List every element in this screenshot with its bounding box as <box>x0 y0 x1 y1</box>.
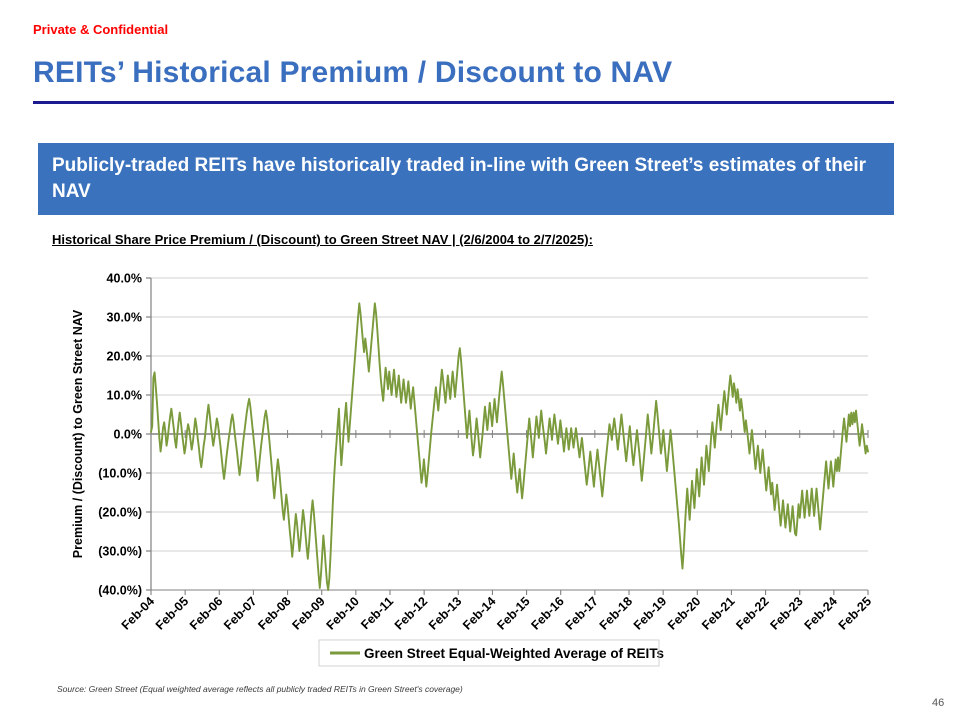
x-tick-label: Feb-18 <box>597 594 635 632</box>
x-tick-label: Feb-07 <box>221 594 259 632</box>
x-tick-label: Feb-13 <box>426 594 464 632</box>
x-tick-label: Feb-21 <box>699 594 737 632</box>
x-tick-label: Feb-06 <box>187 594 225 632</box>
y-axis-ticks <box>146 278 151 590</box>
x-tick-label: Feb-11 <box>358 594 396 632</box>
legend-label-green-street: Green Street Equal-Weighted Average of R… <box>364 646 664 661</box>
chart-legend: Green Street Equal-Weighted Average of R… <box>330 646 664 661</box>
y-tick-label: 30.0% <box>107 311 142 325</box>
x-tick-label: Feb-04 <box>119 594 157 632</box>
chart-canvas: 40.0%30.0%20.0%10.0%0.0%(10.0%)(20.0%)(3… <box>60 268 890 678</box>
page-number: 46 <box>932 697 944 709</box>
x-tick-label: Feb-08 <box>255 594 293 632</box>
x-tick-label: Feb-24 <box>802 594 840 632</box>
x-axis-tick-labels: Feb-04Feb-05Feb-06Feb-07Feb-08Feb-09Feb-… <box>119 594 874 632</box>
page-title: REITs’ Historical Premium / Discount to … <box>33 56 672 90</box>
x-tick-label: Feb-20 <box>665 594 703 632</box>
callout-banner: Publicly-traded REITs have historically … <box>38 143 894 215</box>
x-tick-label: Feb-23 <box>767 594 805 632</box>
y-axis-tick-labels: 40.0%30.0%20.0%10.0%0.0%(10.0%)(20.0%)(3… <box>98 272 142 598</box>
x-tick-label: Feb-12 <box>392 594 430 632</box>
x-tick-label: Feb-25 <box>836 594 874 632</box>
x-tick-label: Feb-19 <box>631 594 669 632</box>
y-tick-label: 10.0% <box>107 389 142 403</box>
premium-discount-line-chart: 40.0%30.0%20.0%10.0%0.0%(10.0%)(20.0%)(3… <box>60 268 890 678</box>
x-tick-label: Feb-14 <box>460 594 498 632</box>
title-divider <box>33 101 894 104</box>
y-axis-title: Premium / (Discount) to Green Street NAV <box>71 309 85 558</box>
x-tick-label: Feb-05 <box>153 594 191 632</box>
y-tick-label: 40.0% <box>107 272 142 286</box>
chart-subtitle: Historical Share Price Premium / (Discou… <box>52 232 593 247</box>
y-tick-label: 20.0% <box>107 350 142 364</box>
x-tick-label: Feb-22 <box>733 594 771 632</box>
x-tick-label: Feb-17 <box>563 594 601 632</box>
x-tick-label: Feb-16 <box>528 594 566 632</box>
callout-banner-text: Publicly-traded REITs have historically … <box>52 153 880 205</box>
y-tick-label: (10.0%) <box>98 467 142 481</box>
y-tick-label: (40.0%) <box>98 584 142 598</box>
y-tick-label: 0.0% <box>114 428 143 442</box>
y-tick-label: (30.0%) <box>98 545 142 559</box>
x-tick-label: Feb-09 <box>289 594 327 632</box>
x-tick-label: Feb-15 <box>494 594 532 632</box>
y-tick-label: (20.0%) <box>98 506 142 520</box>
confidential-tag: Private & Confidential <box>33 22 168 37</box>
source-note: Source: Green Street (Equal weighted ave… <box>57 684 463 694</box>
x-tick-label: Feb-10 <box>324 594 362 632</box>
